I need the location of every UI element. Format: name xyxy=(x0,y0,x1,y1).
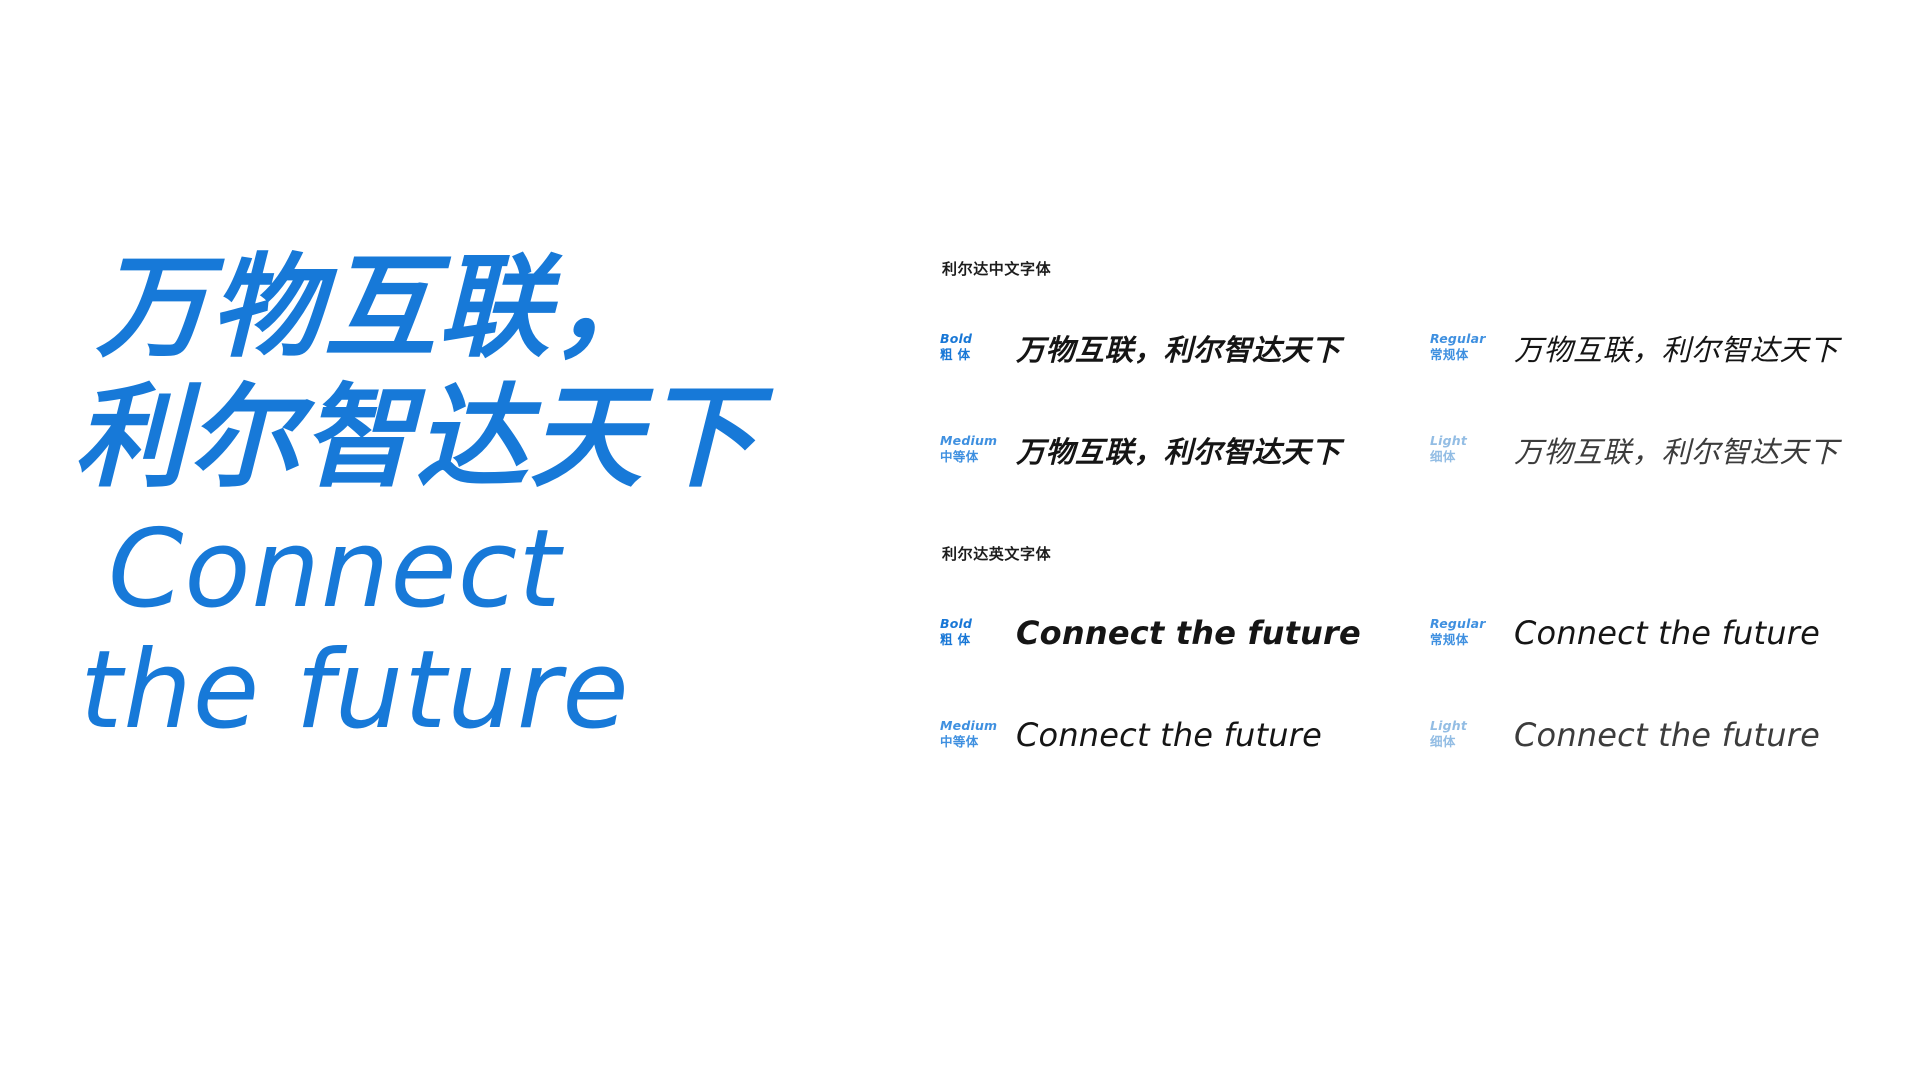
specimen-row-english-medium: Medium 中等体 Connect the future xyxy=(940,706,1430,764)
weight-label-en: Medium xyxy=(940,718,1002,734)
specimen-panel: 利尔达中文字体 Bold 粗 体 万物互联，利尔智达天下 Regular 常规体 xyxy=(940,262,1870,764)
weight-label-medium: Medium 中等体 xyxy=(940,718,1002,750)
weight-label-regular: Regular 常规体 xyxy=(1430,331,1492,363)
specimen-grid-chinese: Bold 粗 体 万物互联，利尔智达天下 Regular 常规体 万物互联，利尔… xyxy=(940,319,1870,479)
specimen-sample-english-light: Connect the future xyxy=(1492,716,1870,754)
weight-label-cn: 中等体 xyxy=(940,449,1002,465)
specimen-row-english-light: Light 细体 Connect the future xyxy=(1430,706,1870,764)
weight-label-light: Light 细体 xyxy=(1430,718,1492,750)
weight-label-bold: Bold 粗 体 xyxy=(940,616,1002,648)
weight-label-en: Regular xyxy=(1430,331,1492,347)
hero-chinese-line-1: 万物互联， xyxy=(96,244,856,374)
specimen-sample-chinese-medium: 万物互联，利尔智达天下 xyxy=(1002,429,1430,471)
slide-canvas: 万物互联， 利尔智达天下 Connect the future 利尔达中文字体 … xyxy=(0,0,1920,1080)
hero-english-line-1: Connect xyxy=(108,510,856,631)
weight-label-en: Bold xyxy=(940,331,1002,347)
weight-label-cn: 中等体 xyxy=(940,734,1002,750)
weight-label-regular: Regular 常规体 xyxy=(1430,616,1492,648)
specimen-row-chinese-bold: Bold 粗 体 万物互联，利尔智达天下 xyxy=(940,319,1430,377)
weight-label-medium: Medium 中等体 xyxy=(940,433,1002,465)
weight-label-en: Light xyxy=(1430,433,1492,449)
specimen-sample-chinese-light: 万物互联，利尔智达天下 xyxy=(1492,429,1870,471)
specimen-row-english-bold: Bold 粗 体 Connect the future xyxy=(940,604,1430,662)
hero-english-line-2: the future xyxy=(80,631,856,752)
weight-label-bold: Bold 粗 体 xyxy=(940,331,1002,363)
specimen-row-english-regular: Regular 常规体 Connect the future xyxy=(1430,604,1870,662)
specimen-row-chinese-regular: Regular 常规体 万物互联，利尔智达天下 xyxy=(1430,319,1870,377)
specimen-block-english: 利尔达英文字体 Bold 粗 体 Connect the future Regu… xyxy=(940,547,1870,764)
weight-label-en: Light xyxy=(1430,718,1492,734)
weight-label-cn: 常规体 xyxy=(1430,347,1492,363)
weight-label-light: Light 细体 xyxy=(1430,433,1492,465)
hero-chinese-line-2: 利尔智达天下 xyxy=(74,374,856,504)
weight-label-en: Regular xyxy=(1430,616,1492,632)
specimen-heading-chinese: 利尔达中文字体 xyxy=(942,262,1870,277)
specimen-sample-chinese-regular: 万物互联，利尔智达天下 xyxy=(1492,327,1870,369)
hero-lockup: 万物互联， 利尔智达天下 Connect the future xyxy=(96,244,856,752)
weight-label-cn: 细体 xyxy=(1430,734,1492,750)
weight-label-cn: 粗 体 xyxy=(940,632,1002,648)
specimen-sample-english-bold: Connect the future xyxy=(1002,614,1430,652)
specimen-heading-english: 利尔达英文字体 xyxy=(942,547,1870,562)
specimen-block-chinese: 利尔达中文字体 Bold 粗 体 万物互联，利尔智达天下 Regular 常规体 xyxy=(940,262,1870,479)
weight-label-en: Medium xyxy=(940,433,1002,449)
specimen-sample-chinese-bold: 万物互联，利尔智达天下 xyxy=(1002,327,1430,369)
weight-label-en: Bold xyxy=(940,616,1002,632)
weight-label-cn: 细体 xyxy=(1430,449,1492,465)
specimen-row-chinese-medium: Medium 中等体 万物互联，利尔智达天下 xyxy=(940,421,1430,479)
specimen-sample-english-regular: Connect the future xyxy=(1492,614,1870,652)
weight-label-cn: 粗 体 xyxy=(940,347,1002,363)
weight-label-cn: 常规体 xyxy=(1430,632,1492,648)
specimen-row-chinese-light: Light 细体 万物互联，利尔智达天下 xyxy=(1430,421,1870,479)
specimen-sample-english-medium: Connect the future xyxy=(1002,716,1430,754)
specimen-grid-english: Bold 粗 体 Connect the future Regular 常规体 … xyxy=(940,604,1870,764)
